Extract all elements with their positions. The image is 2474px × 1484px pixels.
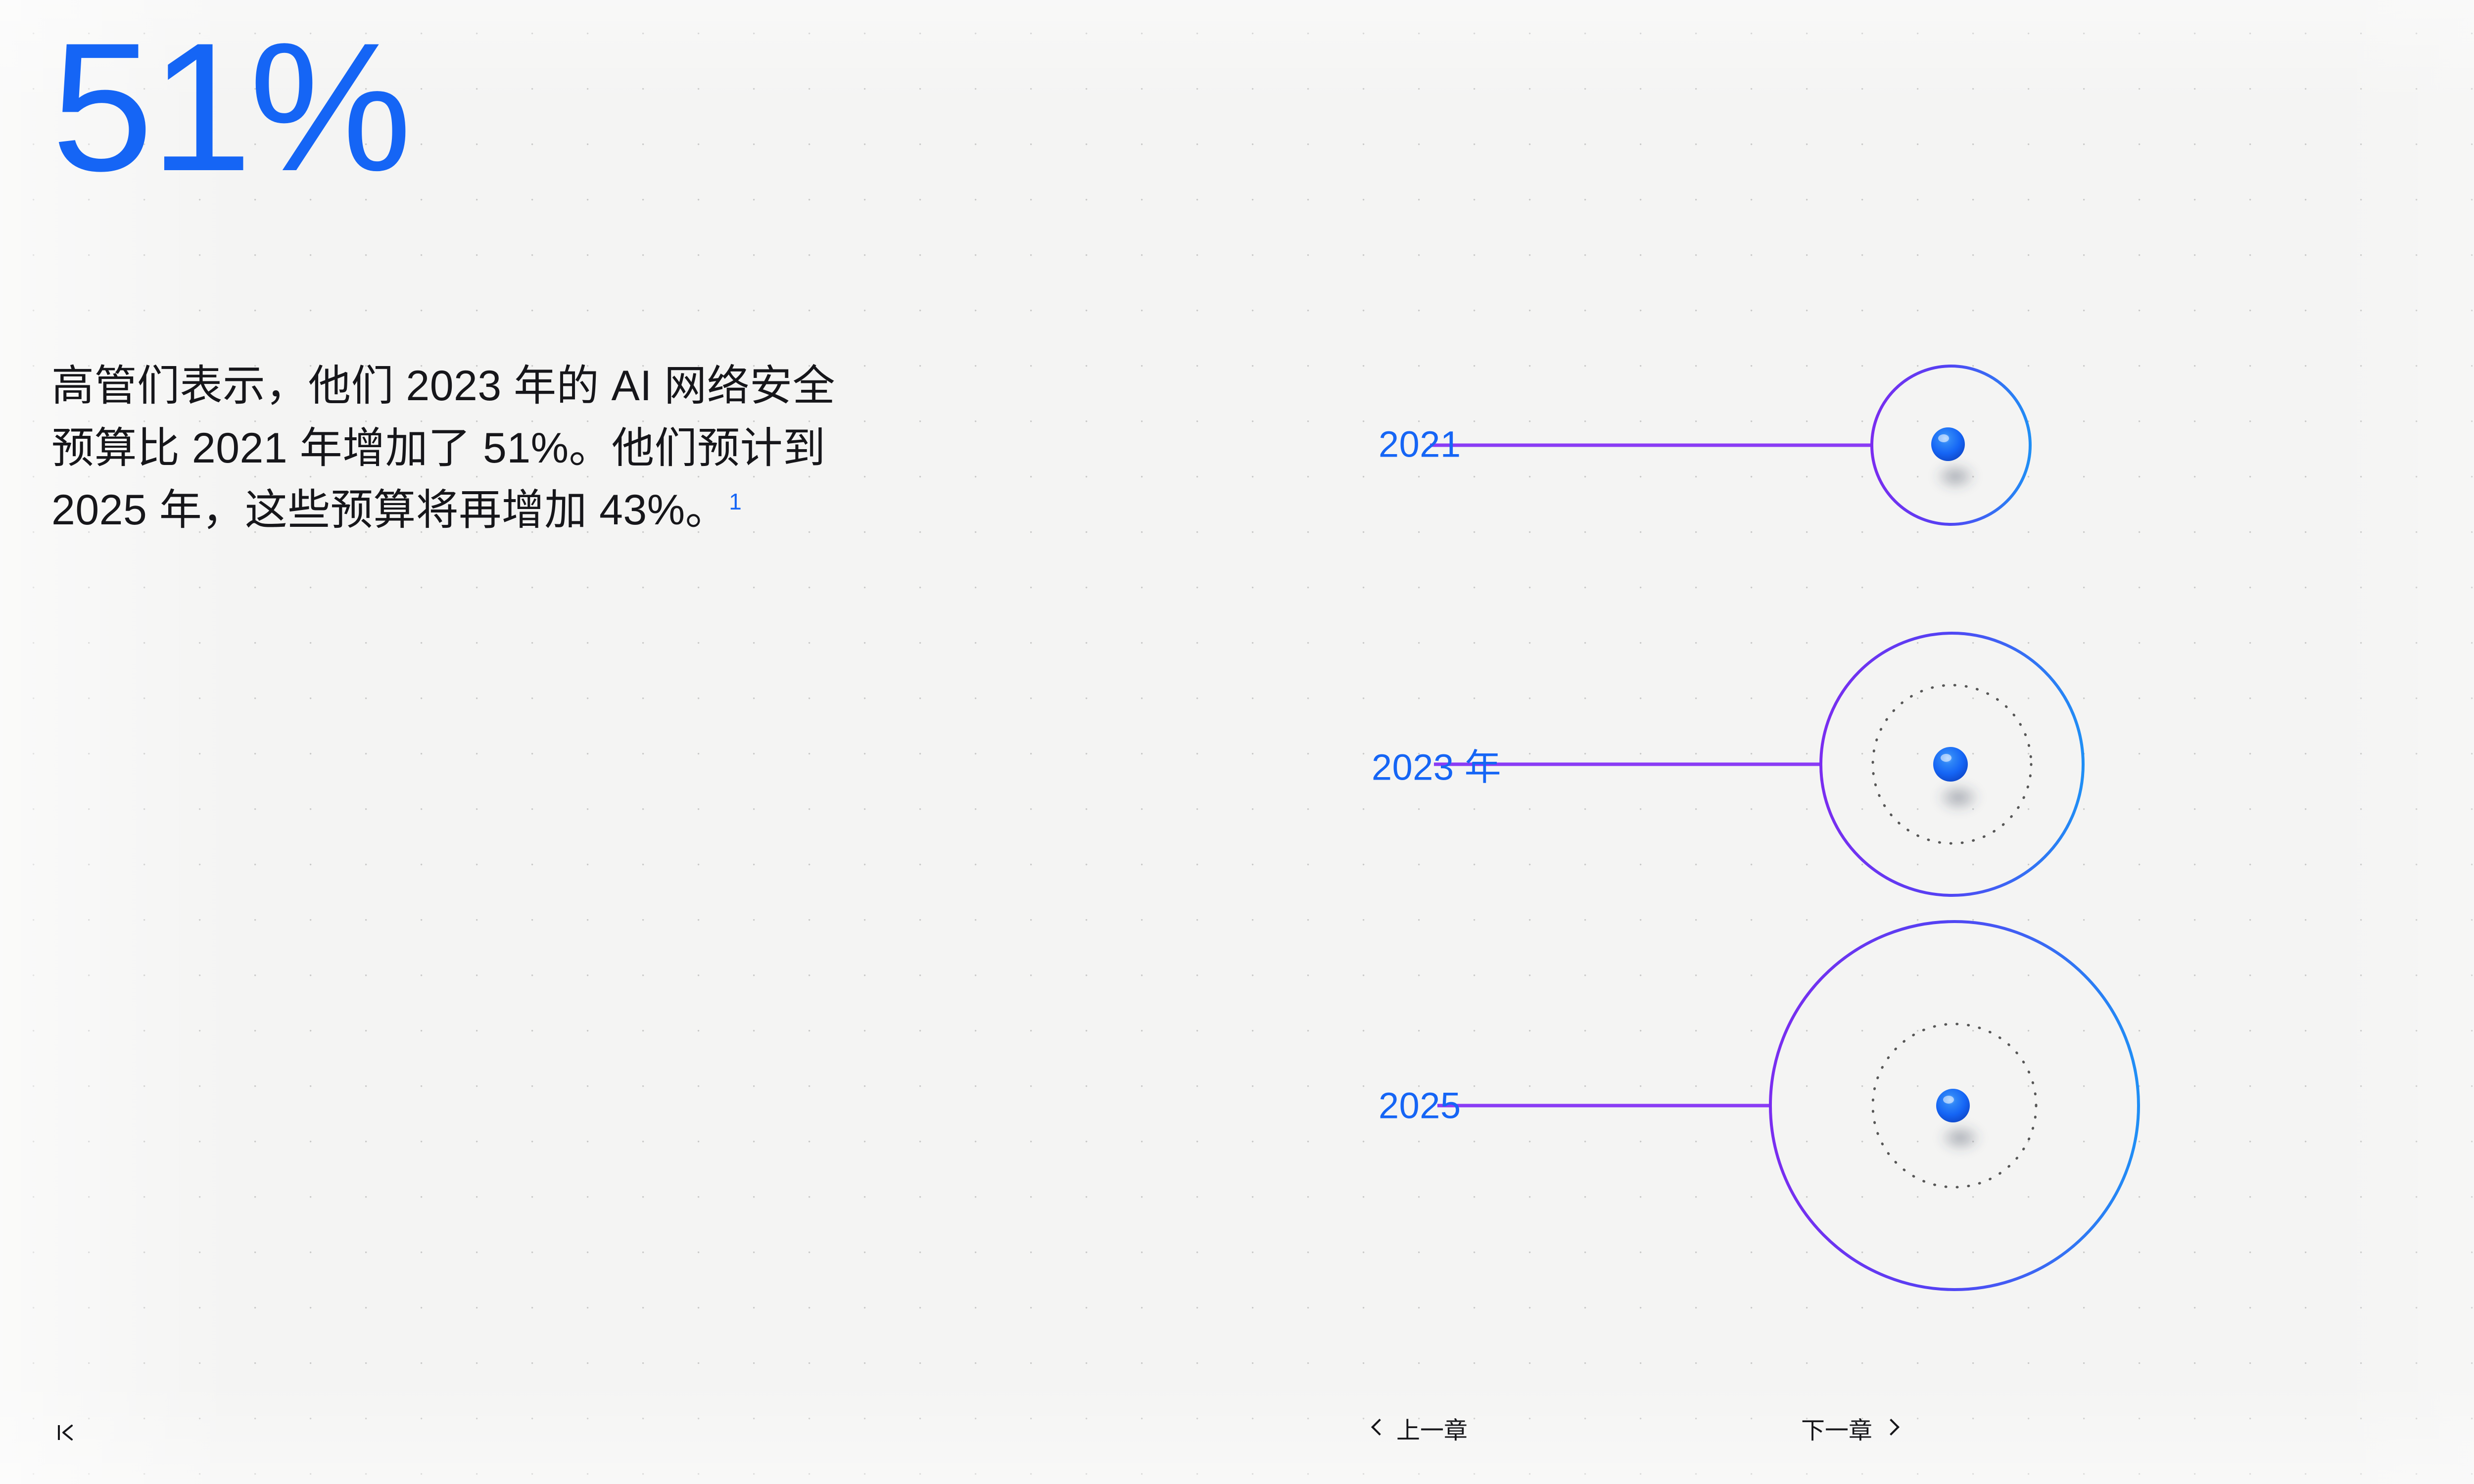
bubble-ring-2025 [1770,922,2139,1290]
bubble-label-2023[interactable]: 2023 年 [1372,738,1501,791]
next-chapter-label: 下一章 [1801,1411,1872,1445]
bubble-dot-highlight-2021 [1938,434,1949,442]
chevron-right-icon [1885,1417,1898,1439]
bubble-ring-2021 [1872,366,2030,524]
bubble-ring-2023 [1821,633,2083,895]
bubble-dot-highlight-2023 [1941,754,1951,762]
bubble-group-2021 [1430,366,2030,524]
next-chapter-button[interactable]: 下一章 [1801,1411,1898,1445]
previous-chapter-button[interactable]: 上一章 [1371,1411,1468,1445]
skip-to-start-icon [51,1419,79,1446]
bottom-navigation-bar: 上一章 下一章 8 [0,1390,2474,1484]
bubble-group-2025 [1437,922,2139,1290]
body-paragraph-text: 高管们表示，他们 2023 年的 AI 网络安全预算比 2021 年增加了 51… [51,362,835,534]
bubble-label-2021[interactable]: 2021 [1379,423,1461,465]
bubble-group-2023 [1434,633,2083,895]
bubble-inner-dotted-ring-2023 [1873,685,2031,843]
body-paragraph: 高管们表示，他们 2023 年的 AI 网络安全预算比 2021 年增加了 51… [51,355,843,542]
bubble-inner-dotted-ring-2025 [1873,1024,2036,1187]
previous-chapter-label: 上一章 [1396,1411,1468,1445]
bubble-dot-shadow-2021 [1934,462,1977,491]
bubble-dot-2023 [1933,747,1968,782]
footnote-reference[interactable]: 1 [729,489,742,514]
headline-statistic: 51% [51,16,409,199]
bubble-dot-highlight-2025 [1943,1096,1954,1104]
bubble-label-2025[interactable]: 2025 [1379,1085,1461,1127]
skip-to-start-button[interactable] [48,1415,83,1450]
left-text-column: 51% 高管们表示，他们 2023 年的 AI 网络安全预算比 2021 年增加… [48,0,889,1484]
slide-root: 51% 高管们表示，他们 2023 年的 AI 网络安全预算比 2021 年增加… [0,0,2474,1484]
bubble-dot-2025 [1936,1089,1970,1122]
chevron-left-icon [1371,1417,1383,1439]
bubble-dot-shadow-2023 [1936,782,1981,813]
bubble-dot-shadow-2025 [1938,1123,1983,1153]
bubble-dot-2021 [1931,427,1965,461]
